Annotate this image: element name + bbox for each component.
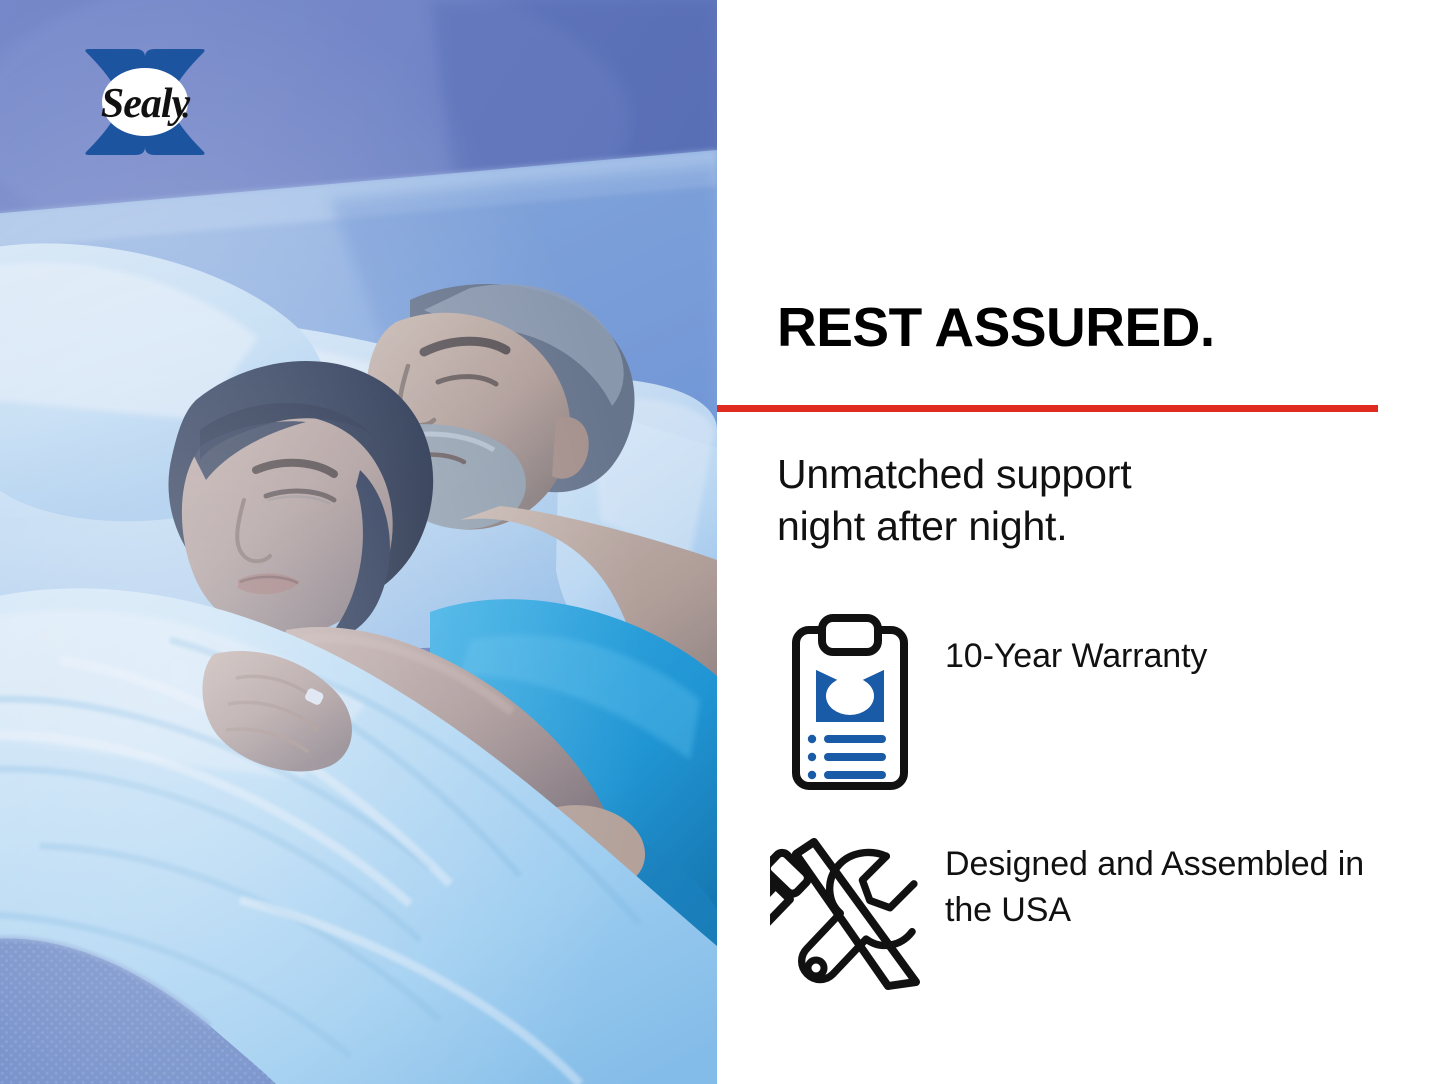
bedroom-photo: Sealy <box>0 0 717 1084</box>
clipboard-warranty-icon <box>755 612 945 792</box>
red-divider <box>717 405 1378 412</box>
sleeping-couple-illustration <box>0 0 717 1084</box>
subheadline: Unmatched support night after night. <box>777 448 1207 553</box>
message-panel: REST ASSURED. Unmatched support night af… <box>717 0 1445 1084</box>
svg-text:Sealy: Sealy <box>101 81 191 127</box>
feature-item-warranty: 10-Year Warranty <box>755 612 1415 792</box>
page-title: REST ASSURED. <box>777 300 1215 355</box>
feature-label-made-in-usa: Designed and Assembled in the USA <box>945 836 1415 934</box>
feature-label-warranty: 10-Year Warranty <box>945 612 1415 680</box>
sealy-bowtie-logo-icon: Sealy <box>79 43 211 161</box>
feature-list: 10-Year Warranty <box>755 612 1415 1042</box>
sealy-logo: Sealy <box>79 43 211 161</box>
sealy-rest-assured-ad: Sealy REST ASSURED. Unmatched support ni… <box>0 0 1445 1084</box>
pencil-wrench-icon <box>755 836 945 998</box>
feature-item-made-in-usa: Designed and Assembled in the USA <box>755 836 1415 998</box>
